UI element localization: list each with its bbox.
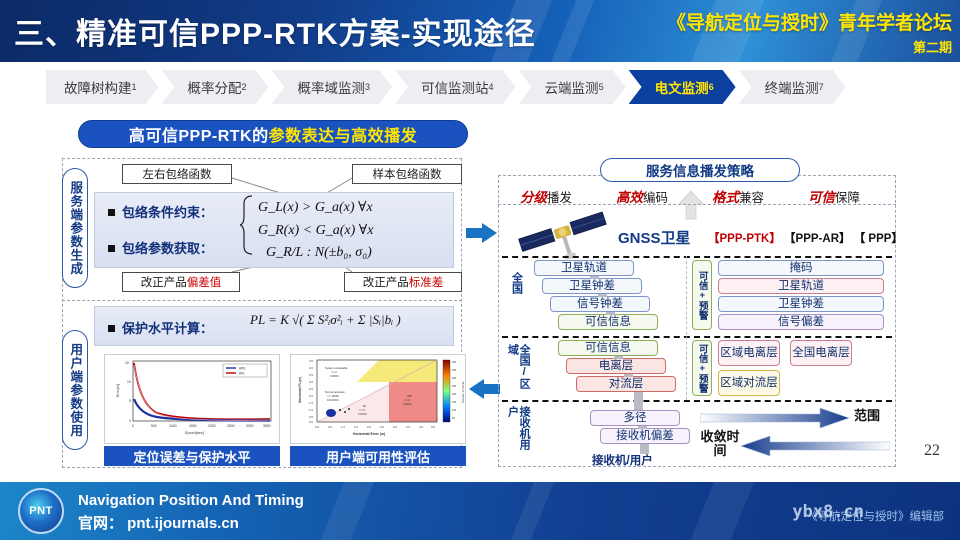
- chain-connector: [614, 356, 623, 359]
- svg-text:n = 14999: n = 14999: [327, 394, 339, 398]
- svg-text:4.0: 4.0: [309, 366, 313, 370]
- protection-level-formula: PL = K √( Σ S²ᵢσ²ᵢ + Σ |Sᵢ|bᵢ ): [250, 312, 401, 328]
- svg-text:5: 5: [129, 399, 131, 403]
- svg-text:10: 10: [127, 380, 131, 384]
- svg-text:3.0: 3.0: [393, 425, 397, 429]
- service-tags: 【PPP-PTK】 【PPP-AR】 【 PPP】: [708, 230, 903, 246]
- breadcrumb-label: 故障树构建: [64, 77, 132, 97]
- left-panel-divider: [62, 300, 462, 301]
- svg-text:HPE: HPE: [239, 367, 246, 371]
- box-receiver-bias: 接收机偏差: [600, 428, 690, 444]
- strategy-item-1: 分级播发: [520, 186, 572, 206]
- breadcrumb-label: 可信监测站: [421, 77, 489, 97]
- svg-text:350: 350: [452, 369, 457, 372]
- strategy-highlight: 格式: [712, 190, 739, 205]
- protection-level-row: 保护水平计算：: [108, 318, 213, 338]
- footer-bar: PNT Navigation Position And Timing 官网： p…: [0, 482, 960, 540]
- chart-positioning-error: 151050 05001000 150020002500 30003500 Ep…: [104, 354, 280, 444]
- svg-text:100.000%: 100.000%: [327, 398, 339, 402]
- range-arrow-icon: [700, 408, 850, 428]
- chain-connector: [634, 392, 643, 410]
- service-tag-ppp: 【 PPP】: [854, 233, 903, 245]
- callout-prefix: 改正产品: [363, 274, 409, 290]
- chain-connector: [606, 312, 615, 315]
- chip-trusted-warning-1: 可信+预警: [692, 260, 712, 330]
- chart-1-caption: 定位误差与保护水平: [104, 446, 280, 466]
- convergence-label: 收敛时间: [700, 430, 740, 457]
- svg-text:150: 150: [452, 401, 457, 404]
- pnt-logo: PNT: [18, 488, 64, 534]
- row-label-receiver-user: 接收机用户: [506, 406, 529, 460]
- footer-website: 官网： pnt.ijournals.cn: [78, 512, 239, 533]
- strategy-rest: 兼容: [739, 191, 764, 205]
- decorative-streak: [498, 482, 562, 540]
- decorative-streak: [308, 482, 382, 540]
- section-header-pill: 高可信PPP-RTK的参数表达与高效播发: [78, 120, 468, 148]
- breadcrumb-item-4[interactable]: 可信监测站4: [395, 70, 516, 104]
- breadcrumb-index: 7: [819, 82, 824, 92]
- box-satellite-orbit: 卫星轨道: [534, 260, 634, 276]
- section-header-prefix: 高可信PPP-RTK的: [129, 122, 269, 146]
- svg-text:1000: 1000: [169, 424, 177, 428]
- callout-correction-std: 改正产品标准差: [344, 272, 462, 292]
- breadcrumb: 故障树构建1 概率分配2 概率域监测3 可信监测站4 云端监测5 电文监测6 终…: [46, 70, 849, 104]
- svg-text:0.000%: 0.000%: [403, 402, 412, 406]
- box-satellite-clock: 卫星钟差: [542, 278, 642, 294]
- callout-highlight: 标准差: [409, 274, 444, 290]
- svg-text:Horizontal Error (m): Horizontal Error (m): [353, 432, 385, 436]
- breadcrumb-item-3[interactable]: 概率域监测3: [272, 70, 393, 104]
- callout-correction-bias: 改正产品偏差值: [122, 272, 240, 292]
- svg-text:2500: 2500: [227, 424, 235, 428]
- flow-arrow-right-icon: [466, 222, 500, 244]
- svg-text:Epoch[sec]: Epoch[sec]: [185, 431, 204, 435]
- svg-text:3500: 3500: [263, 424, 271, 428]
- svg-text:System unavailable: System unavailable: [325, 366, 348, 370]
- callout-prefix: 改正产品: [141, 274, 187, 290]
- strategy-rest: 播发: [547, 191, 572, 205]
- svg-text:15: 15: [125, 361, 129, 365]
- breadcrumb-label: 电文监测: [655, 77, 709, 97]
- page-number: 22: [924, 442, 940, 460]
- convergence-arrow-icon: [740, 436, 890, 456]
- svg-text:3000: 3000: [246, 424, 254, 428]
- svg-text:0.5: 0.5: [309, 415, 313, 419]
- strategy-rest: 编码: [643, 191, 668, 205]
- chart-1-svg: 151050 05001000 150020002500 30003500 Ep…: [105, 355, 280, 444]
- broadcast-strategy-header: 服务信息播发策略: [600, 158, 800, 182]
- page-title: 三、精准可信PPP-RTK方案-实现途径: [14, 9, 536, 53]
- terminal-label: 接收机/用户: [592, 452, 653, 468]
- strategy-rest: 保障: [835, 191, 860, 205]
- svg-text:300: 300: [452, 377, 457, 380]
- svg-text:0: 0: [132, 424, 134, 428]
- vertical-tag-server: 服务端参数生成: [62, 168, 88, 288]
- row-label-national-regional: 全国/区域: [506, 344, 529, 394]
- svg-text:Normal operation: Normal operation: [325, 390, 345, 394]
- watermark: ybx8.cn: [792, 502, 864, 522]
- strategy-highlight: 高效: [616, 190, 643, 205]
- svg-text:4.5: 4.5: [309, 359, 313, 363]
- box-mask: 掩码: [718, 260, 884, 276]
- svg-text:2.5: 2.5: [380, 425, 384, 429]
- box-satellite-orbit-r: 卫星轨道: [718, 278, 884, 294]
- flow-arrow-left-icon: [466, 378, 500, 400]
- title-right-block: 《导航定位与授时》青年学者论坛 第二期: [667, 8, 952, 56]
- box-multipath: 多径: [590, 410, 680, 426]
- bullet-marker: [108, 325, 115, 332]
- envelope-formula-line-2: G_R(x) < G_a(x) ∀x: [258, 222, 373, 239]
- svg-text:0.0: 0.0: [309, 420, 313, 424]
- svg-text:0.0: 0.0: [315, 425, 319, 429]
- satellite-label: GNSS卫星: [618, 227, 691, 248]
- breadcrumb-index: 5: [599, 82, 604, 92]
- breadcrumb-item-5[interactable]: 云端监测5: [519, 70, 626, 104]
- svg-text:1.5: 1.5: [354, 425, 358, 429]
- svg-text:0.000%: 0.000%: [358, 412, 367, 416]
- box-satellite-clock-r: 卫星钟差: [718, 296, 884, 312]
- box-regional-troposphere: 区域对流层: [718, 370, 780, 396]
- chip-trusted-warning-2: 可信+预警: [692, 340, 712, 396]
- svg-text:200: 200: [452, 393, 457, 396]
- upward-arrow-icon: [676, 190, 706, 220]
- svg-text:n = 0: n = 0: [331, 370, 337, 374]
- envelope-constraint-label: 包络条件约束：: [122, 205, 213, 220]
- box-troposphere: 对流层: [576, 376, 676, 392]
- envelope-param-row: 包络参数获取：: [108, 238, 213, 258]
- svg-text:HMI: HMI: [407, 394, 412, 398]
- breadcrumb-item-1[interactable]: 故障树构建1: [46, 70, 159, 104]
- box-signal-clock: 信号钟差: [550, 296, 650, 312]
- svg-text:0: 0: [129, 419, 131, 423]
- breadcrumb-index: 3: [365, 82, 370, 92]
- service-tag-ppp-ptk: 【PPP-PTK】: [708, 233, 781, 245]
- breadcrumb-label: 云端监测: [545, 77, 599, 97]
- box-ionosphere: 电离层: [566, 358, 666, 374]
- box-trusted-info-1: 可信信息: [558, 314, 658, 330]
- breadcrumb-item-2[interactable]: 概率分配2: [162, 70, 269, 104]
- svg-text:HPL: HPL: [239, 372, 245, 376]
- vertical-tag-user: 用户端参数使用: [62, 330, 88, 450]
- breadcrumb-label: 概率域监测: [298, 77, 366, 97]
- bullet-marker: [108, 245, 115, 252]
- title-bar: 三、精准可信PPP-RTK方案-实现途径 《导航定位与授时》青年学者论坛 第二期: [0, 0, 960, 62]
- row-divider-3: [502, 400, 892, 402]
- svg-text:n = 0: n = 0: [404, 398, 410, 402]
- svg-text:3.5: 3.5: [309, 373, 313, 377]
- svg-text:0.5: 0.5: [328, 425, 332, 429]
- svg-text:Horizontal PL (m): Horizontal PL (m): [298, 377, 302, 403]
- svg-text:Error[m]: Error[m]: [116, 384, 120, 397]
- breadcrumb-index: 4: [489, 82, 494, 92]
- chain-connector: [590, 276, 599, 279]
- chain-connector: [638, 426, 647, 429]
- svg-text:1.0: 1.0: [309, 408, 313, 412]
- svg-text:400: 400: [452, 361, 457, 364]
- svg-text:3.0: 3.0: [309, 380, 313, 384]
- right-panel-column-divider: [686, 256, 687, 400]
- issue-label: 第二期: [667, 37, 952, 56]
- chain-connector: [624, 374, 633, 377]
- right-panel-top-divider: [498, 204, 896, 205]
- breadcrumb-label: 终端监测: [765, 77, 819, 97]
- breadcrumb-item-7[interactable]: 终端监测7: [739, 70, 846, 104]
- svg-text:1.5: 1.5: [309, 401, 313, 405]
- box-signal-bias: 信号偏差: [718, 314, 884, 330]
- section-header-highlight: 参数表达与高效播发: [269, 122, 418, 146]
- svg-text:2.0: 2.0: [309, 394, 313, 398]
- svg-text:1500: 1500: [189, 424, 197, 428]
- envelope-param-label: 包络参数获取：: [122, 241, 213, 256]
- svg-text:MI: MI: [363, 404, 366, 408]
- svg-text:4.5: 4.5: [431, 425, 435, 429]
- row-divider-1: [502, 256, 892, 258]
- strategy-highlight: 分级: [520, 190, 547, 205]
- callout-highlight: 偏差值: [187, 274, 222, 290]
- breadcrumb-item-6-active[interactable]: 电文监测6: [629, 70, 736, 104]
- strategy-item-4: 可信保障: [808, 186, 860, 206]
- callout-left-envelope: 左右包络函数: [122, 164, 232, 184]
- chart-2-caption: 用户端可用性评估: [290, 446, 466, 466]
- svg-text:2.0: 2.0: [367, 425, 371, 429]
- chain-connector: [598, 294, 607, 297]
- svg-text:0.000%: 0.000%: [330, 374, 339, 378]
- box-national-ionosphere: 全国电离层: [790, 340, 852, 366]
- breadcrumb-index: 1: [132, 82, 137, 92]
- strategy-item-3: 格式兼容: [712, 186, 764, 206]
- svg-text:250: 250: [452, 385, 457, 388]
- footer-title-en: Navigation Position And Timing: [78, 492, 304, 509]
- svg-text:n = 0: n = 0: [359, 408, 365, 412]
- journal-name: 《导航定位与授时》青年学者论坛: [667, 8, 952, 35]
- callout-sample-envelope: 样本包络函数: [352, 164, 462, 184]
- svg-text:4.0: 4.0: [419, 425, 423, 429]
- decorative-streak: [678, 482, 762, 540]
- box-trusted-info-2: 可信信息: [558, 340, 658, 356]
- chart-availability-stanford: System unavailablen = 00.000% Normal ope…: [290, 354, 466, 444]
- svg-text:3.5: 3.5: [406, 425, 410, 429]
- svg-text:500: 500: [151, 424, 157, 428]
- chart-2-svg: System unavailablen = 00.000% Normal ope…: [291, 355, 466, 444]
- row-label-national: 全国: [510, 272, 522, 312]
- envelope-formula-line-3: G_R/L : N(±b₀, σ₀): [266, 245, 372, 261]
- envelope-constraint-row: 包络条件约束：: [108, 202, 213, 222]
- row-divider-2: [502, 336, 892, 338]
- svg-text:2000: 2000: [208, 424, 216, 428]
- box-regional-ionosphere: 区域电离层: [718, 340, 780, 366]
- breadcrumb-label: 概率分配: [188, 77, 242, 97]
- strategy-highlight: 可信: [808, 190, 835, 205]
- bullet-marker: [108, 209, 115, 216]
- service-tag-ppp-ar: 【PPP-AR】: [784, 233, 850, 245]
- envelope-formula-line-1: G_L(x) > G_a(x) ∀x: [258, 199, 373, 216]
- strategy-item-2: 高效编码: [616, 186, 668, 206]
- svg-text:2.5: 2.5: [309, 387, 313, 391]
- svg-text:1.0: 1.0: [341, 425, 345, 429]
- range-label: 范围: [854, 409, 880, 423]
- breadcrumb-index: 2: [242, 82, 247, 92]
- svg-text:100: 100: [452, 409, 457, 412]
- protection-level-label: 保护水平计算：: [122, 321, 213, 336]
- svg-text:Number of Points: Number of Points: [461, 381, 465, 403]
- breadcrumb-index: 6: [709, 82, 714, 92]
